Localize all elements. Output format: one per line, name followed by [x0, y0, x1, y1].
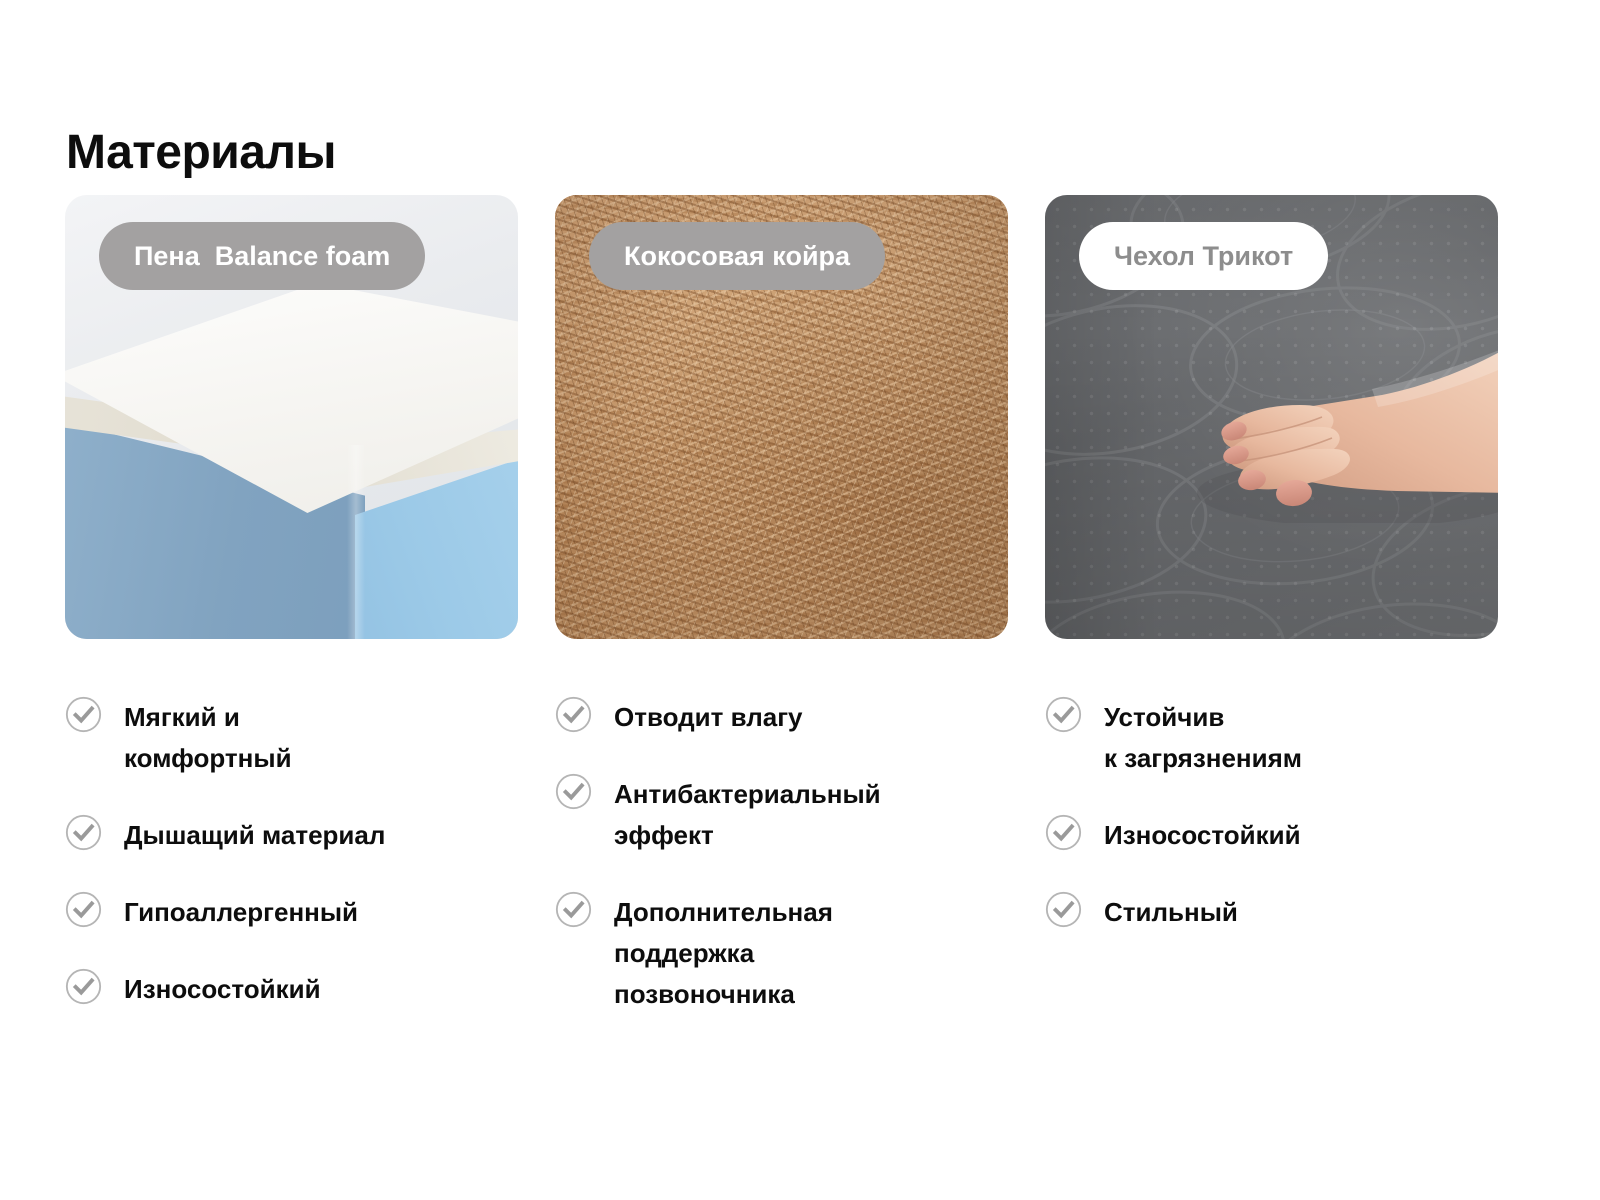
feature-item: Износостойкий	[65, 966, 518, 1010]
feature-column-cover: Устойчив к загрязнениям Износостойкий Ст…	[1045, 694, 1498, 1015]
feature-label: Отводит влагу	[614, 694, 803, 738]
features-grid: Мягкий и комфортный Дышащий материал Гип…	[65, 694, 1533, 1015]
feature-label: Антибактериальный эффект	[614, 771, 881, 856]
check-circle-icon	[555, 891, 592, 928]
foam-corner-highlight	[347, 445, 365, 639]
feature-label: Износостойкий	[1104, 812, 1301, 856]
material-cards-grid: Пена Balance foam Кокосовая койра	[65, 195, 1533, 639]
check-circle-icon	[555, 773, 592, 810]
feature-label: Устойчив к загрязнениям	[1104, 694, 1302, 779]
feature-item: Износостойкий	[1045, 812, 1498, 856]
check-circle-icon	[555, 696, 592, 733]
check-circle-icon	[1045, 891, 1082, 928]
materials-page: Материалы Пена Balance foam Кокосовая ко…	[0, 0, 1600, 1200]
check-circle-icon	[65, 696, 102, 733]
feature-item: Дополнительная поддержка позвоночника	[555, 889, 1008, 1015]
hand-illustration	[1182, 343, 1498, 523]
feature-column-foam: Мягкий и комфортный Дышащий материал Гип…	[65, 694, 518, 1015]
material-card-coir[interactable]: Кокосовая койра	[555, 195, 1008, 639]
feature-column-coir: Отводит влагу Антибактериальный эффект Д…	[555, 694, 1008, 1015]
card-badge-foam: Пена Balance foam	[99, 222, 425, 290]
feature-item: Устойчив к загрязнениям	[1045, 694, 1498, 779]
feature-item: Мягкий и комфортный	[65, 694, 518, 779]
feature-item: Антибактериальный эффект	[555, 771, 1008, 856]
check-circle-icon	[65, 968, 102, 1005]
feature-label: Мягкий и комфортный	[124, 694, 292, 779]
feature-label: Износостойкий	[124, 966, 321, 1010]
check-circle-icon	[1045, 814, 1082, 851]
feature-item: Дышащий материал	[65, 812, 518, 856]
feature-label: Стильный	[1104, 889, 1238, 933]
feature-label: Дышащий материал	[124, 812, 385, 856]
feature-label: Дополнительная поддержка позвоночника	[614, 889, 833, 1015]
check-circle-icon	[1045, 696, 1082, 733]
feature-label: Гипоаллергенный	[124, 889, 358, 933]
page-title: Материалы	[66, 127, 336, 180]
check-circle-icon	[65, 814, 102, 851]
card-badge-coir: Кокосовая койра	[589, 222, 885, 290]
card-badge-cover: Чехол Трикот	[1079, 222, 1328, 290]
material-card-cover[interactable]: Чехол Трикот	[1045, 195, 1498, 639]
feature-item: Отводит влагу	[555, 694, 1008, 738]
feature-item: Гипоаллергенный	[65, 889, 518, 933]
material-card-foam[interactable]: Пена Balance foam	[65, 195, 518, 639]
feature-item: Стильный	[1045, 889, 1498, 933]
check-circle-icon	[65, 891, 102, 928]
